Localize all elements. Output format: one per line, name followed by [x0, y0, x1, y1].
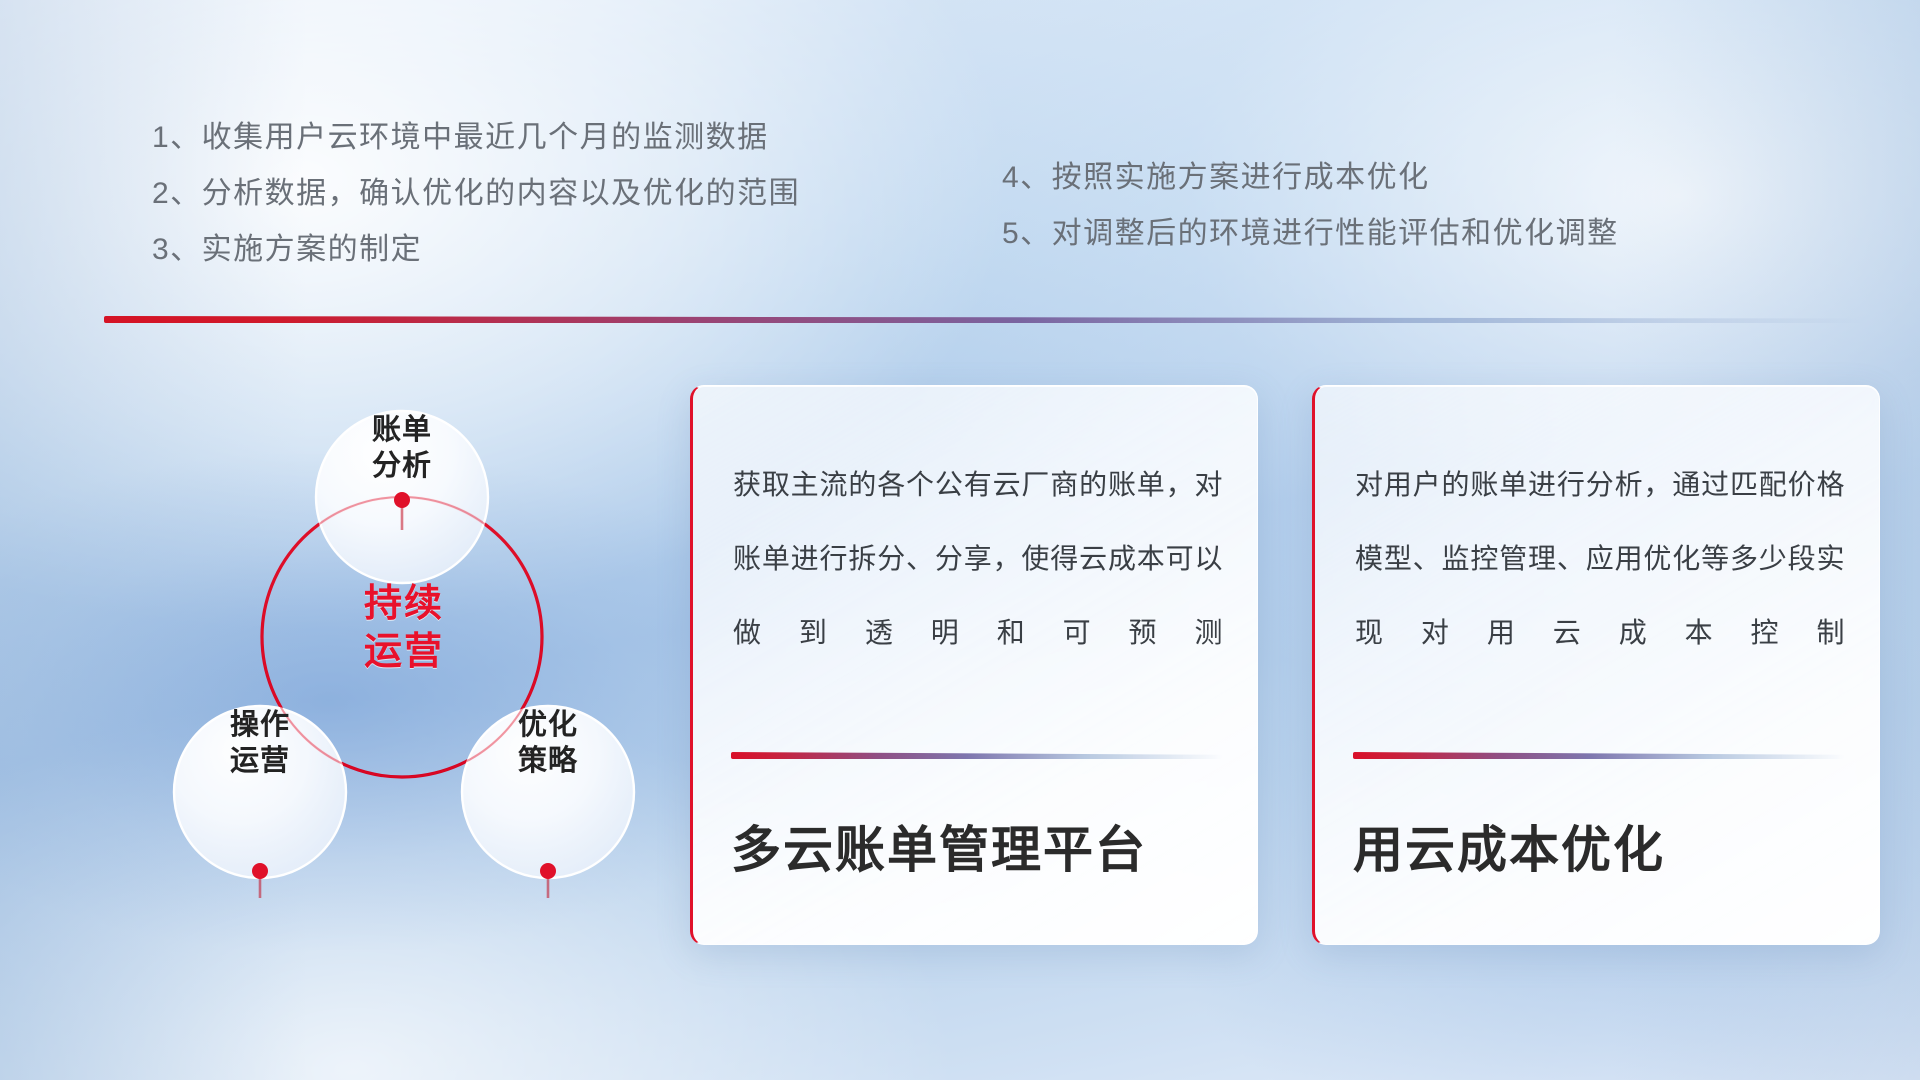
venn-label-left: 操作 运营	[190, 707, 330, 779]
card-body-text: 获取主流的各个公有云厂商的账单，对账单进行拆分、分享，使得云成本可以做到透明和可…	[733, 448, 1223, 670]
card-divider	[1353, 752, 1845, 759]
steps-right-column: 4、按照实施方案进行成本优化 5、对调整后的环境进行性能评估和优化调整	[1002, 150, 1619, 262]
venn-label-center: 持续 运营	[326, 580, 482, 676]
step-item-2: 2、分析数据，确认优化的内容以及优化的范围	[152, 166, 800, 222]
step-item-4: 4、按照实施方案进行成本优化	[1002, 150, 1619, 206]
venn-dot-top	[394, 492, 410, 508]
card-multicloud-billing[interactable]: 获取主流的各个公有云厂商的账单，对账单进行拆分、分享，使得云成本可以做到透明和可…	[690, 385, 1258, 945]
card-cloud-cost-optimization[interactable]: 对用户的账单进行分析，通过匹配价格模型、监控管理、应用优化等多少段实现对用云成本…	[1312, 385, 1880, 945]
card-body-text: 对用户的账单进行分析，通过匹配价格模型、监控管理、应用优化等多少段实现对用云成本…	[1355, 448, 1845, 670]
card-title: 用云成本优化	[1353, 818, 1849, 882]
step-item-3: 3、实施方案的制定	[152, 222, 800, 278]
venn-dot-right	[540, 863, 556, 879]
steps-left-column: 1、收集用户云环境中最近几个月的监测数据 2、分析数据，确认优化的内容以及优化的…	[152, 110, 800, 278]
steps-list: 1、收集用户云环境中最近几个月的监测数据 2、分析数据，确认优化的内容以及优化的…	[0, 110, 1920, 290]
venn-diagram: 账单 分析 操作 运营 优化 策略 持续 运营	[96, 352, 656, 932]
step-item-5: 5、对调整后的环境进行性能评估和优化调整	[1002, 206, 1619, 262]
step-item-1: 1、收集用户云环境中最近几个月的监测数据	[152, 110, 800, 166]
card-divider	[731, 752, 1223, 759]
cards-row: 获取主流的各个公有云厂商的账单，对账单进行拆分、分享，使得云成本可以做到透明和可…	[690, 385, 1880, 945]
venn-label-right: 优化 策略	[478, 707, 618, 779]
card-title: 多云账单管理平台	[731, 818, 1227, 882]
venn-dot-left	[252, 863, 268, 879]
venn-label-top: 账单 分析	[332, 412, 472, 484]
